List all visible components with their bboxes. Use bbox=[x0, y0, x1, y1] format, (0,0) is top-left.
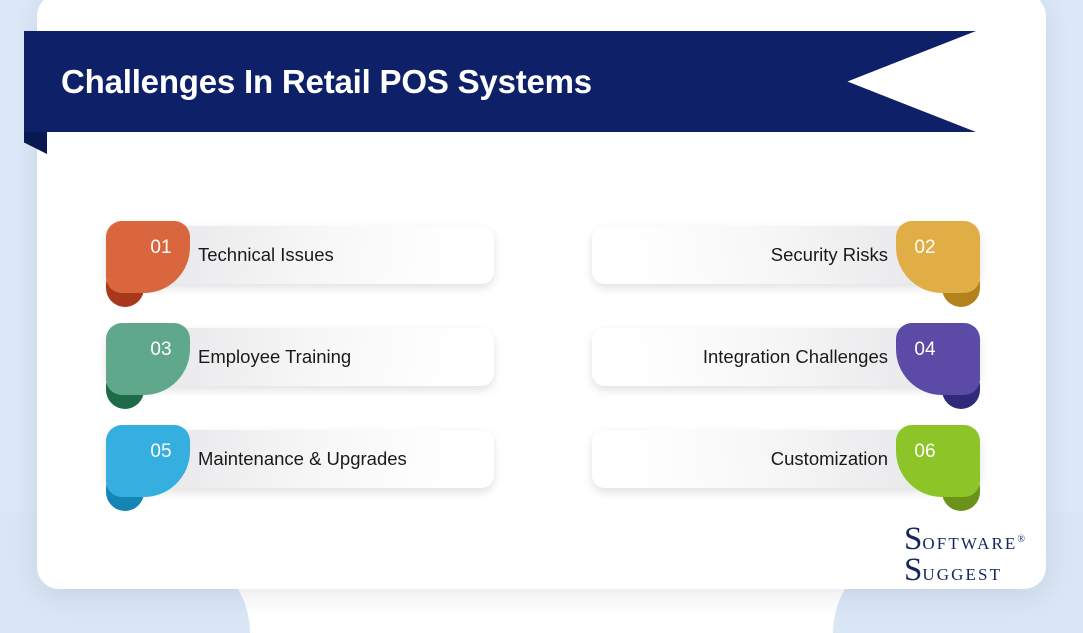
logo-line-two: S UGGEST bbox=[904, 555, 1025, 585]
challenge-label: Integration Challenges bbox=[606, 328, 888, 386]
challenge-label: Security Risks bbox=[606, 226, 888, 284]
challenge-item[interactable]: 03Employee Training bbox=[106, 323, 494, 392]
challenge-item[interactable]: 04Integration Challenges bbox=[592, 323, 980, 392]
logo-capital-s-bottom: S bbox=[904, 555, 922, 585]
page-title: Challenges In Retail POS Systems bbox=[61, 63, 592, 101]
ribbon-fold bbox=[24, 132, 47, 154]
challenge-grid: 01Technical Issues02Security Risks03Empl… bbox=[106, 221, 986, 494]
infographic-canvas: Challenges In Retail POS Systems 01Techn… bbox=[0, 0, 1083, 633]
badge-number: 01 bbox=[124, 221, 171, 257]
badge-number: 04 bbox=[914, 323, 961, 359]
logo-text-software: OFTWARE bbox=[922, 536, 1017, 552]
header-ribbon: Challenges In Retail POS Systems bbox=[24, 31, 976, 132]
logo-capital-s-top: S bbox=[904, 524, 922, 554]
badge-number: 05 bbox=[124, 425, 171, 461]
challenge-item[interactable]: 01Technical Issues bbox=[106, 221, 494, 290]
challenge-label: Customization bbox=[606, 430, 888, 488]
registered-trademark-icon: ® bbox=[1017, 535, 1025, 544]
challenge-item[interactable]: 02Security Risks bbox=[592, 221, 980, 290]
logo-line-one: S OFTWARE ® bbox=[904, 524, 1025, 554]
badge-number: 02 bbox=[914, 221, 961, 257]
challenge-item[interactable]: 05Maintenance & Upgrades bbox=[106, 425, 494, 494]
challenge-label: Maintenance & Upgrades bbox=[198, 430, 480, 488]
challenge-label: Technical Issues bbox=[198, 226, 480, 284]
badge-number: 06 bbox=[914, 425, 961, 461]
logo-text-suggest: UGGEST bbox=[922, 567, 1002, 583]
badge-number: 03 bbox=[124, 323, 171, 359]
challenge-item[interactable]: 06Customization bbox=[592, 425, 980, 494]
softwaresuggest-logo: S OFTWARE ® S UGGEST bbox=[904, 524, 1025, 585]
challenge-label: Employee Training bbox=[198, 328, 480, 386]
